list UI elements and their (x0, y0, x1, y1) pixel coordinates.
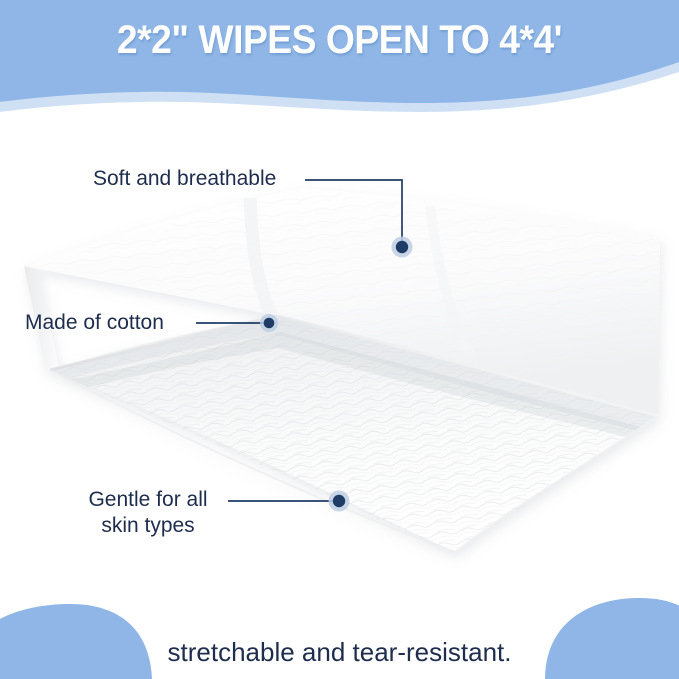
callout-label-made-of-cotton: Made of cotton (25, 310, 164, 336)
header-banner: 2*2" WIPES OPEN TO 4*4' (0, 0, 679, 122)
footer-caption: stretchable and tear-resistant. (0, 635, 679, 669)
callout-label-gentle-for-all-skin-types: Gentle for all skin types (72, 487, 224, 539)
infographic-canvas: 2*2" WIPES OPEN TO 4*4' (0, 0, 679, 679)
page-title: 2*2" WIPES OPEN TO 4*4' (24, 17, 655, 63)
callout-label-soft-and-breathable: Soft and breathable (93, 166, 276, 192)
